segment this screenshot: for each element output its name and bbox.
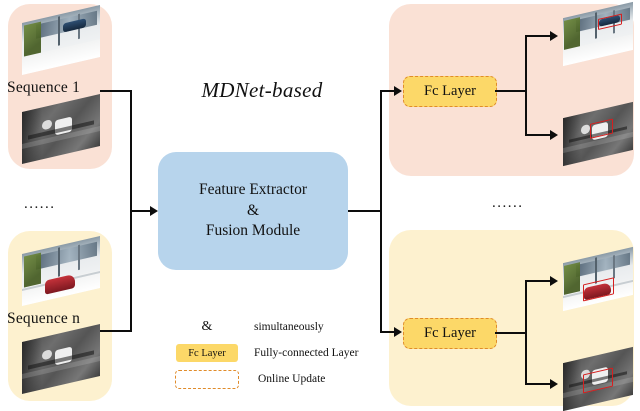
arrow-to-output-n-visible [550,276,558,286]
legend-label-fully-connected: Fully-connected Layer [254,347,358,359]
connector-fc-bot-to-vis [525,280,551,282]
arrow-to-output-n-thermal [550,379,558,389]
fc-layer-branch-1-label: Fc Layer [424,83,476,100]
fc-layer-chip-label: Fc Layer [176,344,238,362]
fc-layer-swatch: Fc Layer [170,344,244,362]
arrow-into-fc-top [394,86,402,96]
fc-layer-branch-1[interactable]: Fc Layer [403,76,497,107]
arrow-to-output-1-thermal [550,130,558,140]
connector-branch-bus [380,90,382,332]
connector-fc-top-to-ir [525,134,551,136]
ellipsis-right: ...... [492,195,524,212]
legend-label-online-update: Online Update [258,373,325,385]
connector-fc-bot-fan [525,280,527,385]
connector-seqn-to-bus [100,330,132,332]
legend-row-fully-connected: Fc Layer Fully-connected Layer [170,342,358,364]
connector-fc-top-to-vis [525,35,551,37]
label-sequence-n: Sequence n [7,310,80,328]
legend-label-simultaneously: simultaneously [254,321,324,333]
legend-row-online-update: Online Update [170,368,325,390]
arrow-to-output-1-visible [550,31,558,41]
feature-extractor-fusion-module: Feature Extractor & Fusion Module [158,152,348,270]
core-line-3: Fusion Module [206,221,300,241]
connector-fc-bot-to-ir [525,383,551,385]
connector-bus-to-fc-bot [380,331,395,333]
arrow-into-fc-bot [394,327,402,337]
connector-core-to-bus [348,210,382,212]
dashed-box-swatch [175,370,239,389]
diagram-canvas: Sequence 1 ...... Sequence n MDNet-based… [0,0,640,411]
connector-bus-to-fc-top [380,90,395,92]
fc-layer-branch-n[interactable]: Fc Layer [403,318,497,349]
dashed-box-icon [170,370,244,389]
ampersand-icon: & [170,319,244,335]
core-line-2: & [247,201,259,221]
connector-fc-bot-out [495,332,527,334]
diagram-title: MDNet-based [182,78,342,103]
ellipsis-left: ...... [24,196,56,213]
arrow-into-core [150,206,158,216]
label-sequence-1: Sequence 1 [7,79,80,97]
connector-fc-top-fan [525,36,527,136]
core-line-1: Feature Extractor [199,180,307,200]
legend-row-simultaneously: & simultaneously [170,316,324,338]
connector-bus-to-core [130,210,152,212]
connector-fc-top-out [495,90,527,92]
connector-seq1-to-bus [100,90,132,92]
fc-layer-branch-n-label: Fc Layer [424,325,476,342]
